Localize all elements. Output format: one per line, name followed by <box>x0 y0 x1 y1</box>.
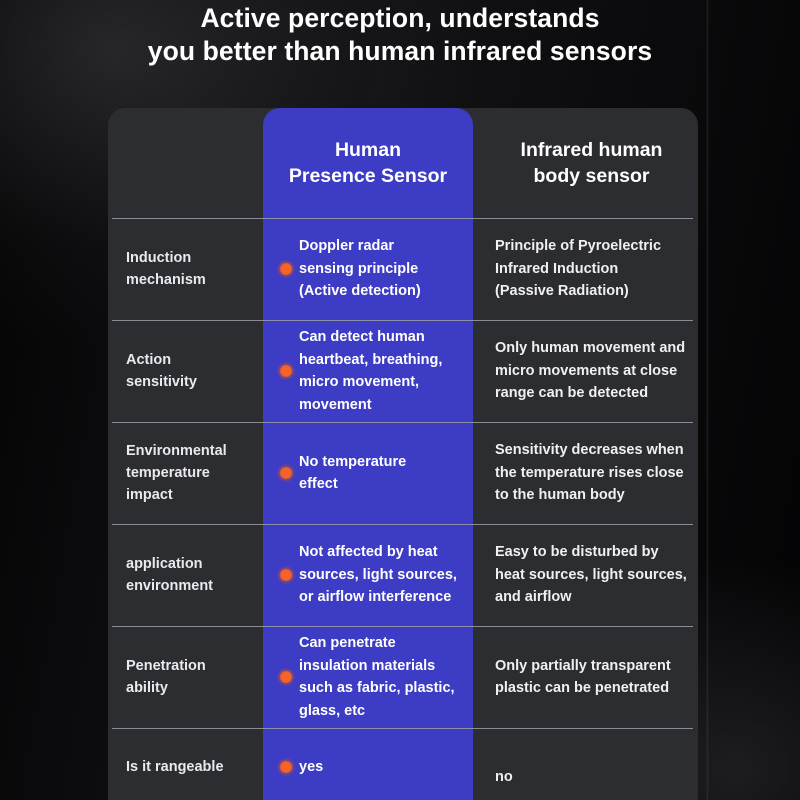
value-line: Easy to be disturbed by <box>495 541 687 564</box>
bullet-marker <box>273 260 299 278</box>
value-line: yes <box>299 756 463 779</box>
value-line: Only partially transparent <box>495 655 671 678</box>
value-line: or airflow interference <box>299 586 463 609</box>
page-title: Active perception, understands you bette… <box>0 2 800 68</box>
bullet-marker <box>273 668 299 686</box>
header-infrared-line-2: body sensor <box>521 163 663 189</box>
table-row: Environmental temperature impact No temp… <box>108 422 698 524</box>
value-line: Can penetrate <box>299 632 463 655</box>
header-cell-human-presence-sensor: Human Presence Sensor <box>263 108 473 218</box>
background-seam-line <box>706 0 709 800</box>
cell-infrared-human-body-sensor: Easy to be disturbed by heat sources, li… <box>473 524 698 626</box>
value-line: the temperature rises close <box>495 462 684 485</box>
value-line: Not affected by heat <box>299 541 463 564</box>
bullet-marker <box>273 362 299 380</box>
value-line: and airflow <box>495 586 687 609</box>
bullet-marker <box>273 566 299 584</box>
dot-icon <box>277 758 295 776</box>
bullet-marker <box>273 464 299 482</box>
value-line: movement <box>299 394 463 417</box>
value-line: sensing principle <box>299 258 463 281</box>
table-row: Action sensitivity Can detect human hear… <box>108 320 698 422</box>
criterion-line: Induction <box>126 247 206 269</box>
criterion-line: Is it rangeable <box>126 756 224 778</box>
value-line: Only human movement and <box>495 337 685 360</box>
header-cell-infrared-human-body-sensor: Infrared human body sensor <box>473 108 698 218</box>
value-line: (Passive Radiation) <box>495 280 661 303</box>
page-title-line-1: Active perception, understands <box>0 2 800 35</box>
value-line: sources, light sources, <box>299 564 463 587</box>
value-line: (Active detection) <box>299 280 463 303</box>
cell-human-presence-sensor: Can detect human heartbeat, breathing, m… <box>263 320 473 422</box>
row-criterion-action-sensitivity: Action sensitivity <box>108 320 263 422</box>
cell-human-presence-sensor: yes <box>263 728 473 779</box>
dot-icon <box>277 464 295 482</box>
row-criterion-environmental-temperature-impact: Environmental temperature impact <box>108 422 263 524</box>
cell-human-presence-sensor: No temperature effect <box>263 422 473 524</box>
value-line: insulation materials <box>299 655 463 678</box>
page-title-line-2: you better than human infrared sensors <box>0 35 800 68</box>
value-line: heartbeat, breathing, <box>299 349 463 372</box>
value-line: micro movements at close <box>495 360 685 383</box>
bullet-marker <box>273 758 299 776</box>
criterion-line: ability <box>126 677 206 699</box>
criterion-line: temperature <box>126 462 227 484</box>
cell-infrared-human-body-sensor: Principle of Pyroelectric Infrared Induc… <box>473 218 698 320</box>
value-line: micro movement, <box>299 371 463 394</box>
criterion-line: Environmental <box>126 440 227 462</box>
value-line: no <box>495 766 513 789</box>
cell-human-presence-sensor: Not affected by heat sources, light sour… <box>263 524 473 626</box>
criterion-line: Penetration <box>126 655 206 677</box>
value-line: Infrared Induction <box>495 258 661 281</box>
value-line: heat sources, light sources, <box>495 564 687 587</box>
cell-infrared-human-body-sensor: Sensitivity decreases when the temperatu… <box>473 422 698 524</box>
header-cell-criterion <box>108 108 263 218</box>
value-line: to the human body <box>495 484 684 507</box>
cell-infrared-human-body-sensor: Only human movement and micro movements … <box>473 320 698 422</box>
value-line: glass, etc <box>299 700 463 723</box>
cell-human-presence-sensor: Doppler radar sensing principle (Active … <box>263 218 473 320</box>
cell-human-presence-sensor: Can penetrate insulation materials such … <box>263 626 473 728</box>
dot-icon <box>277 668 295 686</box>
table-row: application environment Not affected by … <box>108 524 698 626</box>
header-human-presence-sensor-line-2: Presence Sensor <box>289 163 447 189</box>
comparison-card: Human Presence Sensor Infrared human bod… <box>108 108 698 800</box>
row-criterion-is-it-rangeable: Is it rangeable <box>108 728 263 778</box>
row-criterion-application-environment: application environment <box>108 524 263 626</box>
value-line: Can detect human <box>299 326 463 349</box>
header-infrared-line-1: Infrared human <box>521 137 663 163</box>
value-line: effect <box>299 473 463 496</box>
value-line: Sensitivity decreases when <box>495 439 684 462</box>
criterion-line: sensitivity <box>126 371 197 393</box>
cell-infrared-human-body-sensor: Only partially transparent plastic can b… <box>473 626 698 728</box>
value-line: range can be detected <box>495 382 685 405</box>
criterion-line: environment <box>126 575 213 597</box>
header-human-presence-sensor-line-1: Human <box>289 137 447 163</box>
table-row: Induction mechanism Doppler radar sensin… <box>108 218 698 320</box>
table-header-row: Human Presence Sensor Infrared human bod… <box>108 108 698 218</box>
comparison-table: Human Presence Sensor Infrared human bod… <box>108 108 698 800</box>
dot-icon <box>277 362 295 380</box>
value-line: No temperature <box>299 451 463 474</box>
criterion-line: Action <box>126 349 197 371</box>
table-row: Penetration ability Can penetrate insula… <box>108 626 698 728</box>
cell-infrared-human-body-sensor: no <box>473 728 698 789</box>
value-line: Principle of Pyroelectric <box>495 235 661 258</box>
row-criterion-induction-mechanism: Induction mechanism <box>108 218 263 320</box>
value-line: plastic can be penetrated <box>495 677 671 700</box>
criterion-line: impact <box>126 484 227 506</box>
value-line: such as fabric, plastic, <box>299 677 463 700</box>
dot-icon <box>277 260 295 278</box>
criterion-line: application <box>126 553 213 575</box>
row-criterion-penetration-ability: Penetration ability <box>108 626 263 728</box>
value-line: Doppler radar <box>299 235 463 258</box>
criterion-line: mechanism <box>126 269 206 291</box>
dot-icon <box>277 566 295 584</box>
table-row: Is it rangeable yes no <box>108 728 698 800</box>
